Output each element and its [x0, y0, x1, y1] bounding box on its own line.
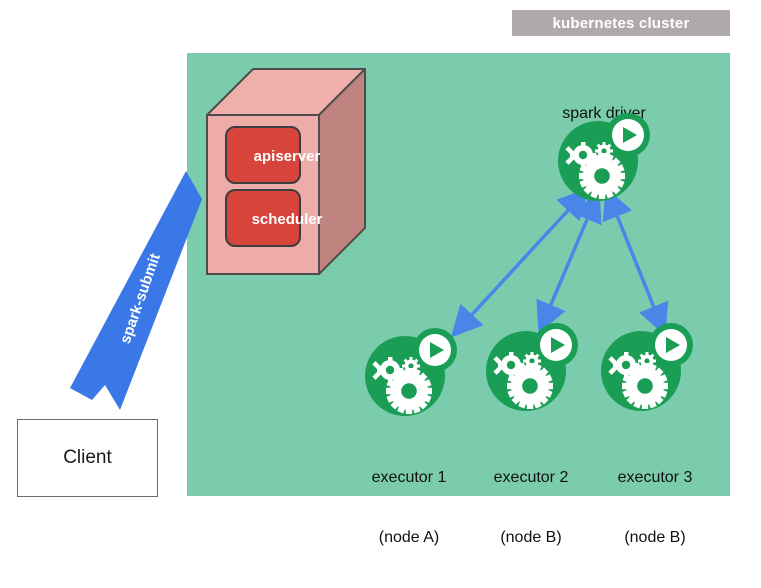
executor-3-label-line2: (node B) — [576, 528, 734, 548]
diagram-canvas: kubernetes cluster Client apiserver sche… — [0, 0, 761, 516]
scheduler-box — [226, 190, 300, 246]
spark-submit-label: spark-submit — [117, 251, 164, 346]
gears-play-icon — [557, 113, 653, 203]
client-box: Client — [17, 419, 158, 497]
spark-submit-arrow — [70, 171, 202, 410]
spark-submit-label-text: spark-submit — [117, 251, 164, 346]
control-plane-cube: apiserver scheduler — [206, 68, 366, 275]
executor-1-node[interactable] — [364, 328, 460, 418]
spark-driver-node[interactable] — [557, 113, 653, 203]
cluster-title-label: kubernetes cluster — [553, 15, 690, 32]
cube-shape — [206, 68, 366, 275]
gears-play-icon — [600, 323, 696, 413]
executor-3-label: executor 3 (node B) — [576, 428, 734, 588]
executor-3-node[interactable] — [600, 323, 696, 413]
executor-3-label-line1: executor 3 — [576, 468, 734, 488]
executor-2-node[interactable] — [485, 323, 581, 413]
client-label: Client — [63, 447, 112, 469]
gears-play-icon — [364, 328, 460, 418]
cluster-title-bar: kubernetes cluster — [512, 10, 730, 36]
gears-play-icon — [485, 323, 581, 413]
spark-submit-banner — [70, 171, 202, 410]
apiserver-box — [226, 127, 300, 183]
